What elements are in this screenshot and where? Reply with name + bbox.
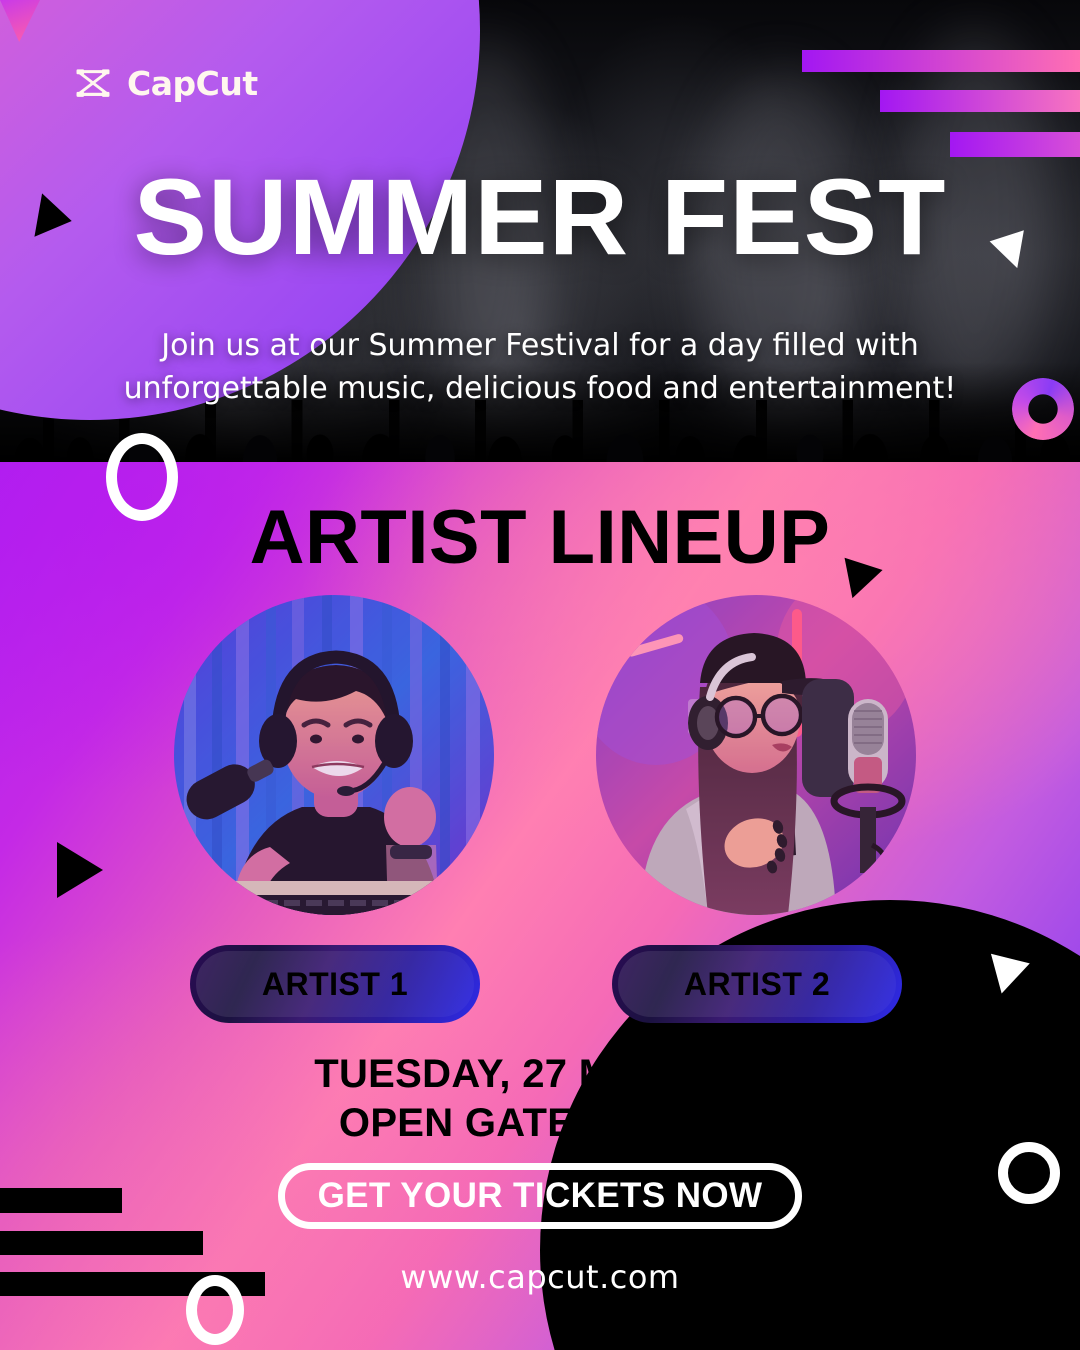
decor-bar-bottom-left-2 — [0, 1231, 203, 1255]
summer-fest-poster: CapCut SUMMER FEST Join us at our Summer… — [0, 0, 1080, 1350]
capcut-hourglass-icon — [72, 62, 114, 104]
streamer-with-headset-image — [174, 595, 494, 915]
artist-photo-2 — [596, 595, 916, 915]
poster-title: SUMMER FEST — [0, 163, 1080, 271]
decor-bar-top-right-1 — [802, 50, 1080, 72]
event-datetime: TUESDAY, 27 MAY 2024 OPEN GATE AT 3 PM — [0, 1050, 1080, 1148]
ring-white-bottom-right-icon — [998, 1142, 1060, 1204]
ring-white-bottom-left-icon — [186, 1275, 244, 1345]
triangle-black-bottom-icon — [768, 1272, 822, 1338]
decor-bar-bottom-left-1 — [0, 1188, 122, 1213]
capcut-logo: CapCut — [72, 62, 258, 104]
artist-photo-1 — [174, 595, 494, 915]
poster-subtitle: Join us at our Summer Festival for a day… — [60, 325, 1020, 410]
singer-with-microphone-image — [596, 595, 916, 915]
ring-gradient-icon — [1012, 378, 1074, 440]
get-tickets-button[interactable]: GET YOUR TICKETS NOW — [278, 1163, 802, 1229]
decor-bar-top-right-3 — [950, 132, 1080, 157]
event-date-line: TUESDAY, 27 MAY 2024 — [0, 1050, 1080, 1099]
event-time-line: OPEN GATE AT 3 PM — [0, 1099, 1080, 1148]
decor-bar-top-right-2 — [880, 90, 1080, 112]
artist-button-2[interactable]: ARTIST 2 — [612, 945, 902, 1023]
artist-button-1[interactable]: ARTIST 1 — [190, 945, 480, 1023]
brand-name: CapCut — [127, 64, 258, 103]
lineup-heading: ARTIST LINEUP — [0, 500, 1080, 576]
triangle-black-play-icon — [57, 842, 103, 898]
